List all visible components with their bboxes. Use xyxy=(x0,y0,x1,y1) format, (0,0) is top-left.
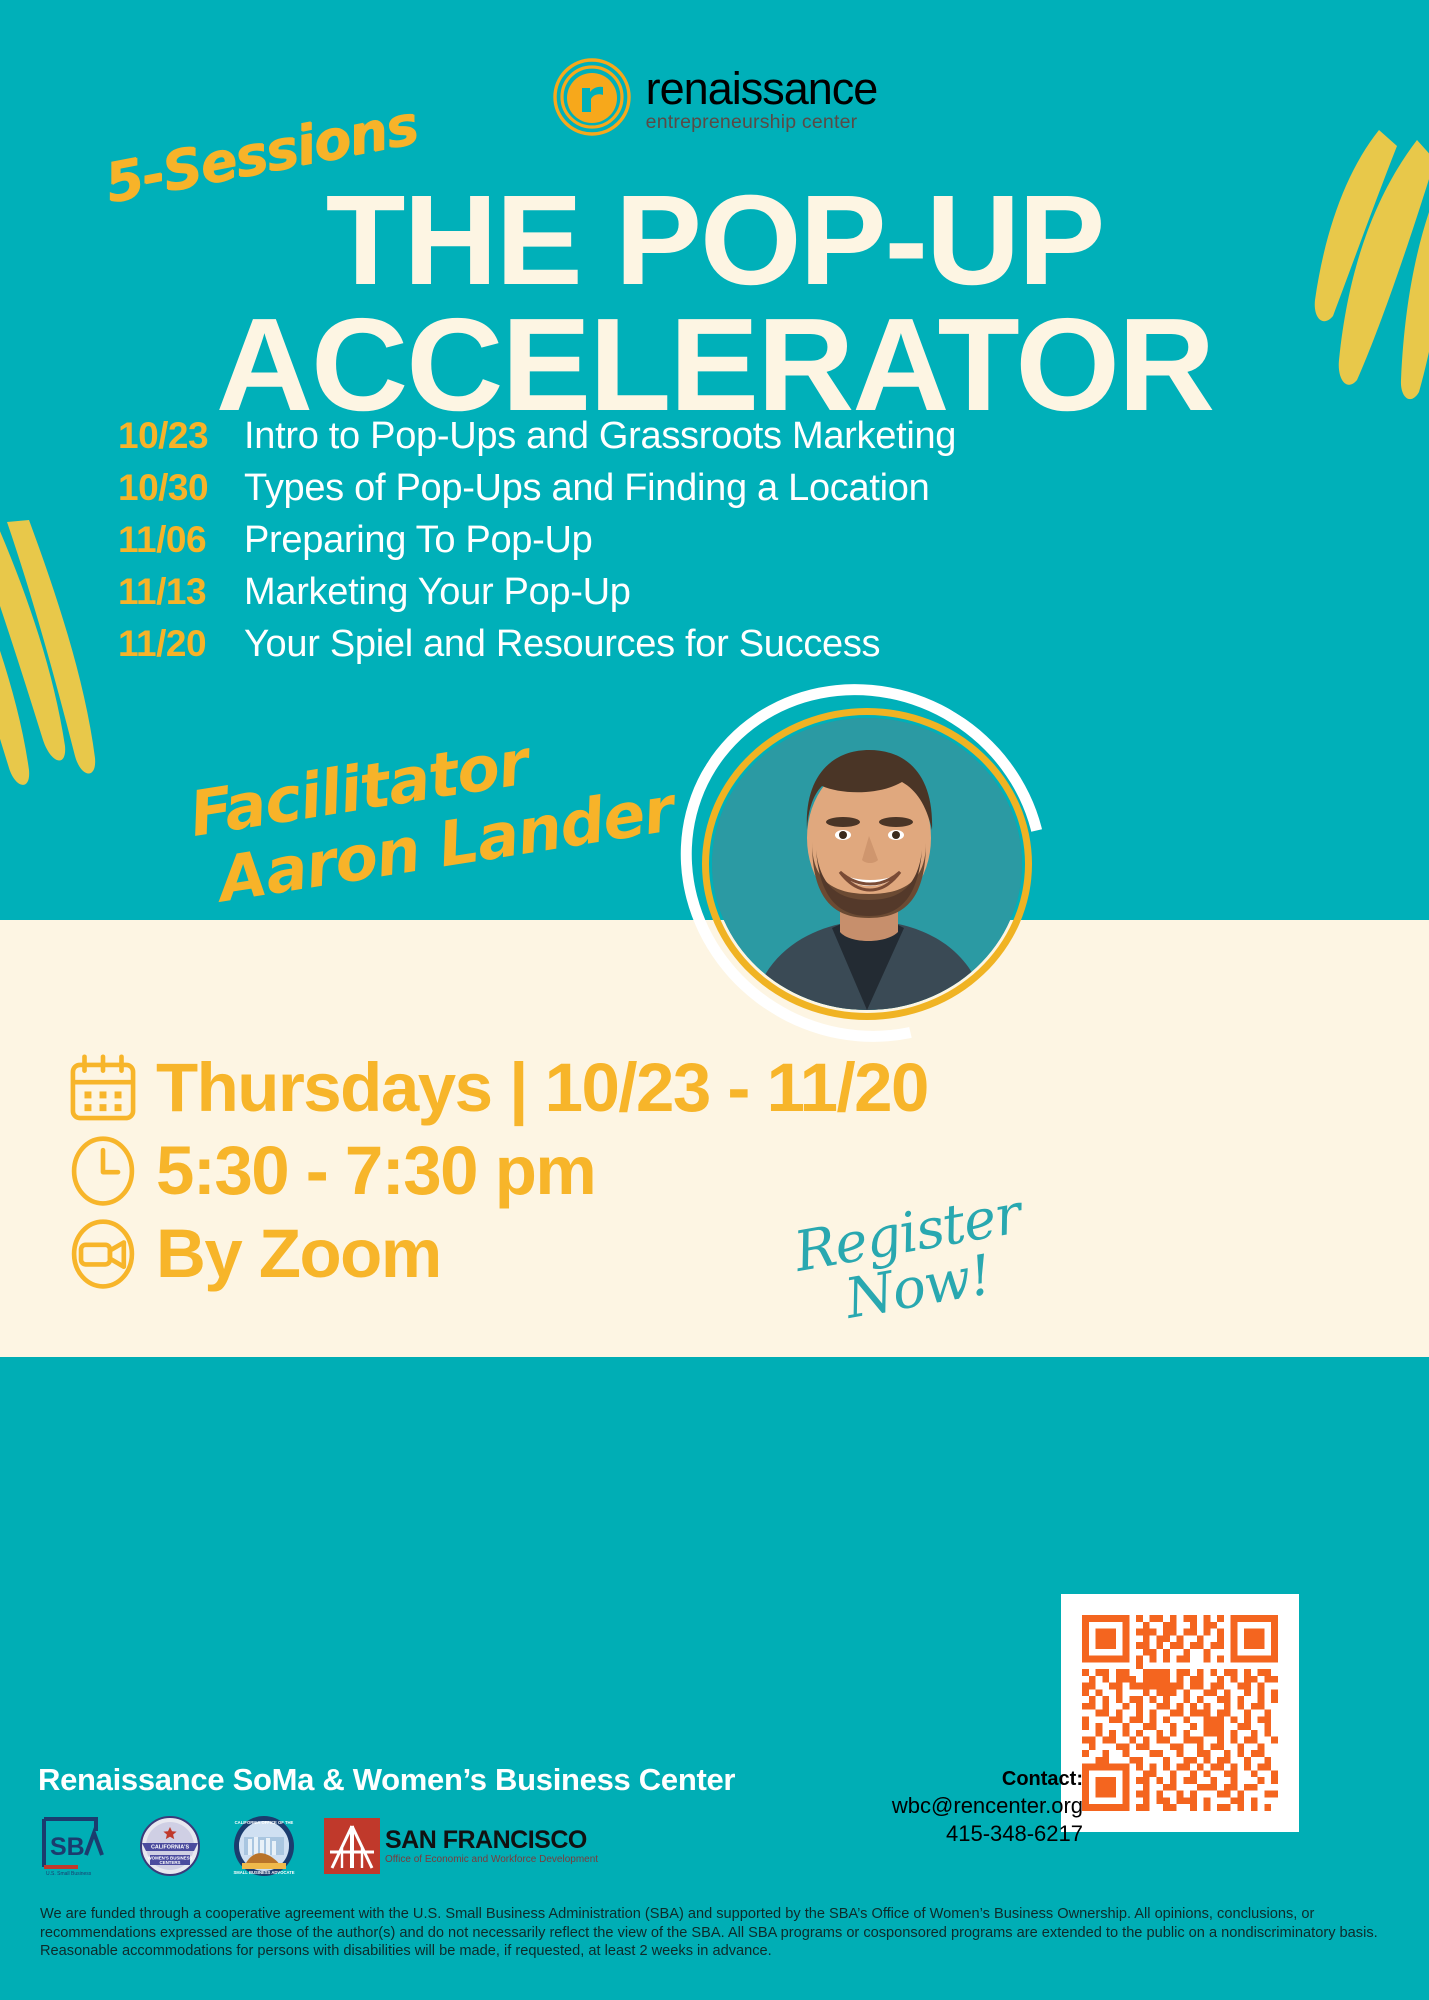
svg-text:CALIFORNIA OFFICE OF THE: CALIFORNIA OFFICE OF THE xyxy=(235,1820,294,1825)
detail-text-location: By Zoom xyxy=(156,1214,441,1293)
svg-text:SMALL BUSINESS ADVOCATE: SMALL BUSINESS ADVOCATE xyxy=(233,1870,294,1875)
session-title: Your Spiel and Resources for Success xyxy=(244,623,880,666)
avatar xyxy=(712,718,1022,1010)
svg-text:SB: SB xyxy=(50,1833,85,1861)
clock-icon xyxy=(66,1134,140,1208)
svg-text:CENTERS: CENTERS xyxy=(160,1860,181,1865)
svg-text:U.S. Small Business: U.S. Small Business xyxy=(46,1871,92,1877)
session-date: 10/30 xyxy=(118,467,244,509)
session-date: 11/13 xyxy=(118,571,244,613)
svg-text:CALIFORNIA'S: CALIFORNIA'S xyxy=(151,1845,190,1851)
session-row: 11/06 Preparing To Pop-Up xyxy=(118,519,1118,562)
session-list: 10/23 Intro to Pop-Ups and Grassroots Ma… xyxy=(118,415,1118,675)
renaissance-r-icon xyxy=(552,57,632,137)
sf-logo-title: SAN FRANCISCO xyxy=(385,1828,598,1853)
session-row: 10/23 Intro to Pop-Ups and Grassroots Ma… xyxy=(118,415,1118,458)
sf-logo-subtitle: Office of Economic and Workforce Develop… xyxy=(385,1855,598,1865)
session-date: 11/20 xyxy=(118,623,244,665)
funding-disclaimer: We are funded through a cooperative agre… xyxy=(40,1905,1395,1961)
session-date: 11/06 xyxy=(118,519,244,561)
contact-label: Contact: xyxy=(892,1768,1083,1791)
session-date: 10/23 xyxy=(118,415,244,457)
golden-gate-bridge-icon xyxy=(324,1818,380,1874)
detail-row-date: Thursdays | 10/23 - 11/20 xyxy=(66,1048,928,1127)
contact-email[interactable]: wbc@rencenter.org xyxy=(892,1793,1083,1819)
san-francisco-oewd-logo: SAN FRANCISCO Office of Economic and Wor… xyxy=(324,1814,598,1878)
session-row: 11/20 Your Spiel and Resources for Succe… xyxy=(118,623,1118,666)
renaissance-logo: renaissance entrepreneurship center xyxy=(0,57,1429,137)
session-row: 10/30 Types of Pop-Ups and Finding a Loc… xyxy=(118,467,1118,510)
calendar-icon xyxy=(66,1051,140,1125)
title-line-2: ACCELERATOR xyxy=(0,302,1429,427)
title-line-1: THE POP-UP xyxy=(0,180,1429,302)
facilitator-portrait xyxy=(668,682,1058,1042)
detail-text-time: 5:30 - 7:30 pm xyxy=(156,1131,595,1210)
session-title: Marketing Your Pop-Up xyxy=(244,571,631,614)
contact-block: Contact: wbc@rencenter.org 415-348-6217 xyxy=(892,1768,1083,1847)
page-title: THE POP-UP ACCELERATOR xyxy=(0,180,1429,427)
detail-text-date: Thursdays | 10/23 - 11/20 xyxy=(156,1048,928,1127)
event-flyer: renaissance entrepreneurship center 5-Se… xyxy=(0,0,1429,2000)
session-title: Intro to Pop-Ups and Grassroots Marketin… xyxy=(244,415,956,458)
logo-subtitle: entrepreneurship center xyxy=(646,113,878,133)
video-camera-icon xyxy=(66,1217,140,1291)
california-office-of-the-small-business-advocate-seal: CALIFORNIA OFFICE OF THE SMALL BUSINESS … xyxy=(230,1814,298,1878)
californias-womens-business-centers-seal: CALIFORNIA'S WOMEN'S BUSINESS CENTERS xyxy=(136,1814,204,1878)
detail-row-time: 5:30 - 7:30 pm xyxy=(66,1131,928,1210)
partner-logos: SB U.S. Small Business CALIFORNIA'S WOME… xyxy=(36,1814,598,1878)
contact-phone[interactable]: 415-348-6217 xyxy=(892,1821,1083,1847)
session-row: 11/13 Marketing Your Pop-Up xyxy=(118,571,1118,614)
logo-name: renaissance xyxy=(646,66,878,111)
footer-center-name: Renaissance SoMa & Women’s Business Cent… xyxy=(38,1762,735,1798)
session-title: Preparing To Pop-Up xyxy=(244,519,592,562)
session-title: Types of Pop-Ups and Finding a Location xyxy=(244,467,929,510)
registration-qr-code[interactable] xyxy=(1061,1594,1299,1832)
sba-logo: SB U.S. Small Business xyxy=(36,1814,110,1878)
